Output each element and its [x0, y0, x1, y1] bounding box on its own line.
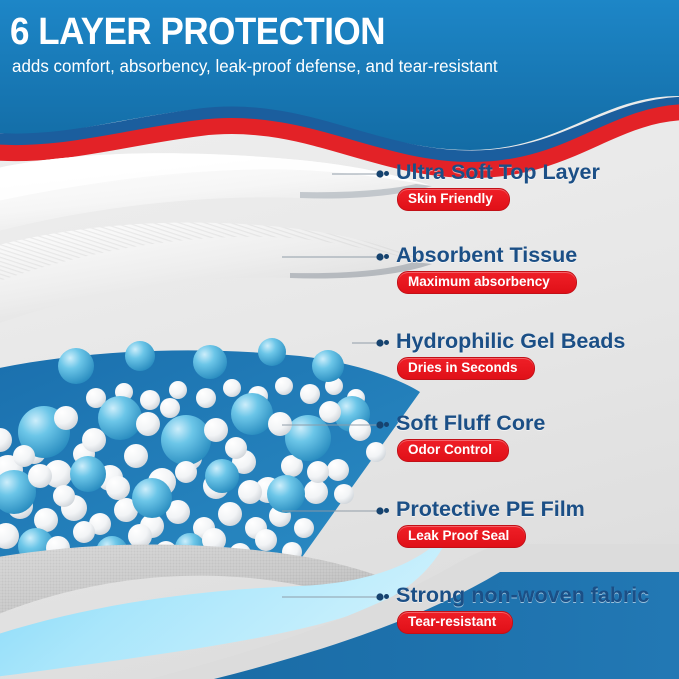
- callout-layer-5: Protective PE Film Leak Proof Seal: [384, 497, 585, 548]
- layer-name: Ultra Soft Top Layer: [396, 160, 600, 184]
- layer-badge: Maximum absorbency: [397, 271, 577, 294]
- callout-layer-6: Strong non-woven fabric Tear-resistant: [384, 583, 649, 634]
- layer-name: Protective PE Film: [396, 497, 585, 521]
- callout-title-row: Ultra Soft Top Layer: [384, 160, 600, 184]
- layer-callouts: Ultra Soft Top Layer Skin Friendly Absor…: [0, 0, 679, 679]
- bullet-dot-icon: [384, 422, 389, 427]
- callout-title-row: Soft Fluff Core: [384, 411, 545, 435]
- callout-layer-2: Absorbent Tissue Maximum absorbency: [384, 243, 577, 294]
- layer-badge: Dries in Seconds: [397, 357, 535, 380]
- layer-badge: Skin Friendly: [397, 188, 510, 211]
- bullet-dot-icon: [384, 254, 389, 259]
- layer-name: Soft Fluff Core: [396, 411, 545, 435]
- layer-badge: Odor Control: [397, 439, 509, 462]
- callout-title-row: Protective PE Film: [384, 497, 585, 521]
- product-infographic: 6 LAYER PROTECTION adds comfort, absorbe…: [0, 0, 679, 679]
- callout-title-row: Strong non-woven fabric: [384, 583, 649, 607]
- layer-badge: Leak Proof Seal: [397, 525, 526, 548]
- bullet-dot-icon: [384, 508, 389, 513]
- bullet-dot-icon: [384, 171, 389, 176]
- bullet-dot-icon: [384, 340, 389, 345]
- callout-layer-1: Ultra Soft Top Layer Skin Friendly: [384, 160, 600, 211]
- callout-title-row: Absorbent Tissue: [384, 243, 577, 267]
- bullet-dot-icon: [384, 594, 389, 599]
- layer-name: Hydrophilic Gel Beads: [396, 329, 625, 353]
- layer-badge: Tear-resistant: [397, 611, 513, 634]
- callout-layer-3: Hydrophilic Gel Beads Dries in Seconds: [384, 329, 625, 380]
- callout-layer-4: Soft Fluff Core Odor Control: [384, 411, 545, 462]
- callout-title-row: Hydrophilic Gel Beads: [384, 329, 625, 353]
- layer-name: Absorbent Tissue: [396, 243, 577, 267]
- layer-name: Strong non-woven fabric: [396, 583, 649, 607]
